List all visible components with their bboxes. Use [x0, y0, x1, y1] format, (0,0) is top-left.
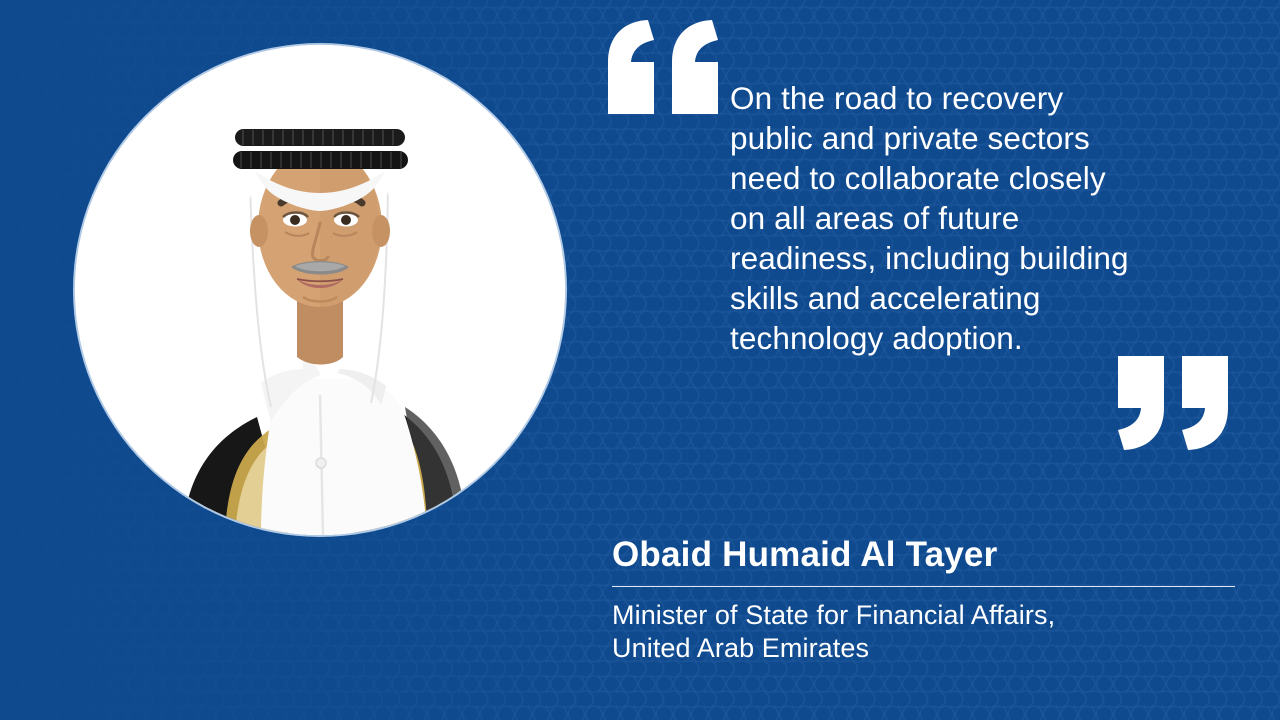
quote-text: On the road to recovery public and priva… [730, 78, 1208, 358]
quote-open-icon [604, 18, 729, 118]
quote-slide: Portrait of Obaid Humaid Al Tayer wearin… [0, 0, 1280, 720]
person-title: Minister of State for Financial Affairs,… [612, 599, 1252, 664]
portrait-avatar: Portrait of Obaid Humaid Al Tayer wearin… [75, 45, 565, 535]
person-name: Obaid Humaid Al Tayer [612, 533, 1252, 577]
quote-close-icon [1114, 352, 1239, 452]
attribution-block: Obaid Humaid Al Tayer Minister of State … [612, 533, 1252, 664]
quote-panel: On the road to recovery public and priva… [596, 0, 1280, 720]
attribution-divider [612, 586, 1235, 587]
portrait-illustration: Portrait of Obaid Humaid Al Tayer wearin… [75, 45, 565, 535]
